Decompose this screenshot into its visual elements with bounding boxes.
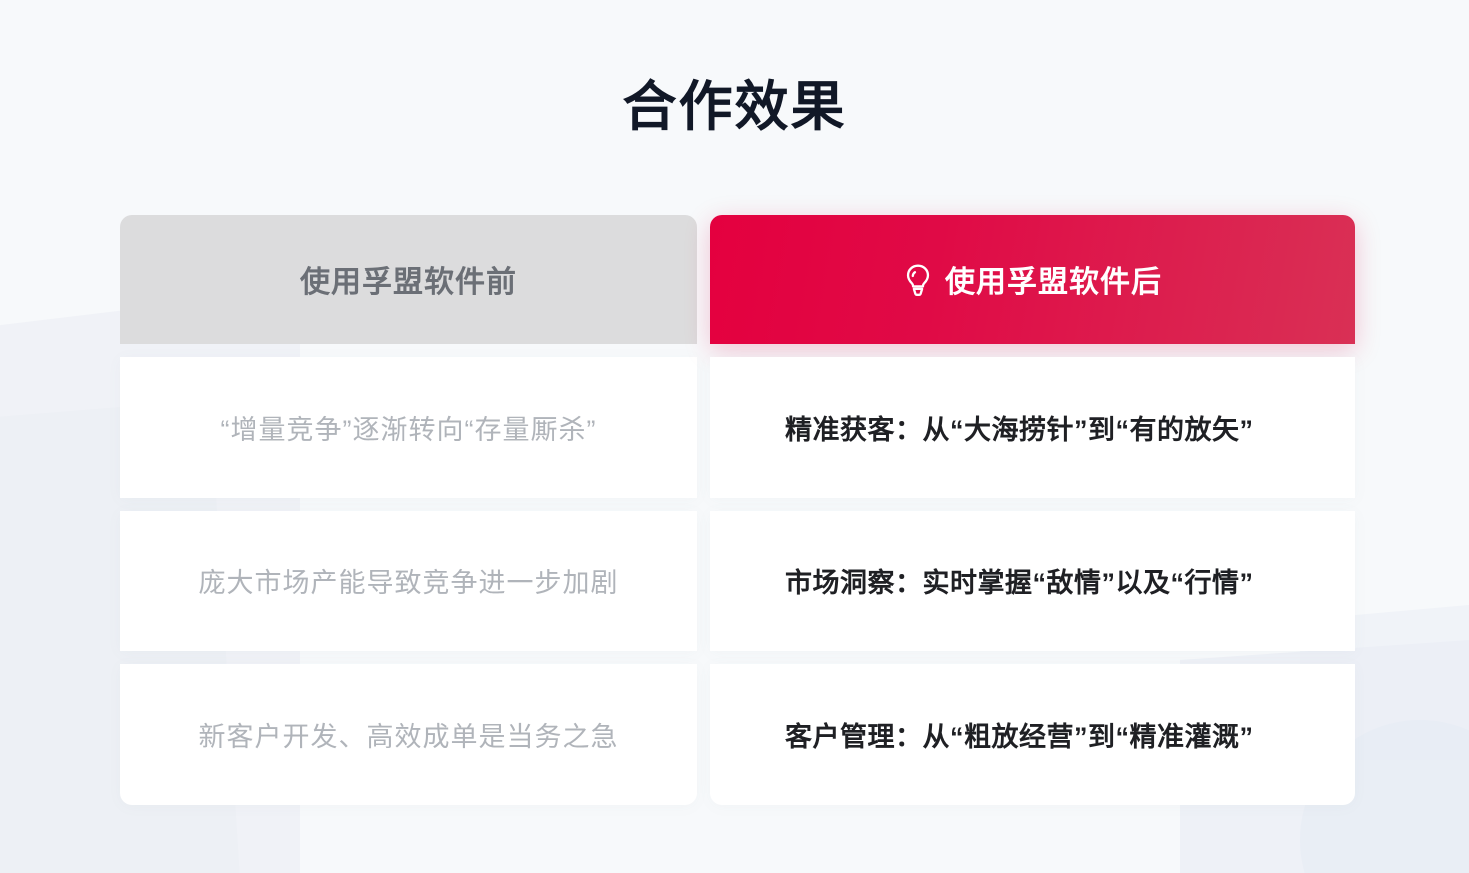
before-row-1: “增量竞争”逐渐转向“存量厮杀” <box>120 357 697 498</box>
lightbulb-icon <box>903 263 933 297</box>
column-header-before-label: 使用孚盟软件前 <box>300 257 517 301</box>
page-title: 合作效果 <box>0 62 1469 141</box>
after-row-2: 市场洞察：实时掌握“敌情”以及“行情” <box>710 511 1355 652</box>
column-header-after-label: 使用孚盟软件后 <box>945 257 1162 301</box>
after-row-2-text: 市场洞察：实时掌握“敌情”以及“行情” <box>785 561 1254 600</box>
comparison-table: 使用孚盟软件前 “增量竞争”逐渐转向“存量厮杀” 庞大市场产能导致竞争进一步加剧… <box>120 215 1355 805</box>
after-row-1: 精准获客：从“大海捞针”到“有的放矢” <box>710 357 1355 498</box>
after-row-3-text: 客户管理：从“粗放经营”到“精准灌溉” <box>785 715 1254 754</box>
before-row-3: 新客户开发、高效成单是当务之急 <box>120 664 697 805</box>
before-row-2-text: 庞大市场产能导致竞争进一步加剧 <box>199 561 619 600</box>
column-header-before: 使用孚盟软件前 <box>120 215 697 344</box>
before-row-2: 庞大市场产能导致竞争进一步加剧 <box>120 511 697 652</box>
before-row-3-text: 新客户开发、高效成单是当务之急 <box>199 715 619 754</box>
after-row-1-text: 精准获客：从“大海捞针”到“有的放矢” <box>785 408 1254 447</box>
column-header-after: 使用孚盟软件后 <box>710 215 1355 344</box>
column-after: 使用孚盟软件后 精准获客：从“大海捞针”到“有的放矢” 市场洞察：实时掌握“敌情… <box>710 215 1355 805</box>
after-row-3: 客户管理：从“粗放经营”到“精准灌溉” <box>710 664 1355 805</box>
before-row-1-text: “增量竞争”逐渐转向“存量厮杀” <box>221 408 597 447</box>
column-before: 使用孚盟软件前 “增量竞争”逐渐转向“存量厮杀” 庞大市场产能导致竞争进一步加剧… <box>120 215 697 805</box>
